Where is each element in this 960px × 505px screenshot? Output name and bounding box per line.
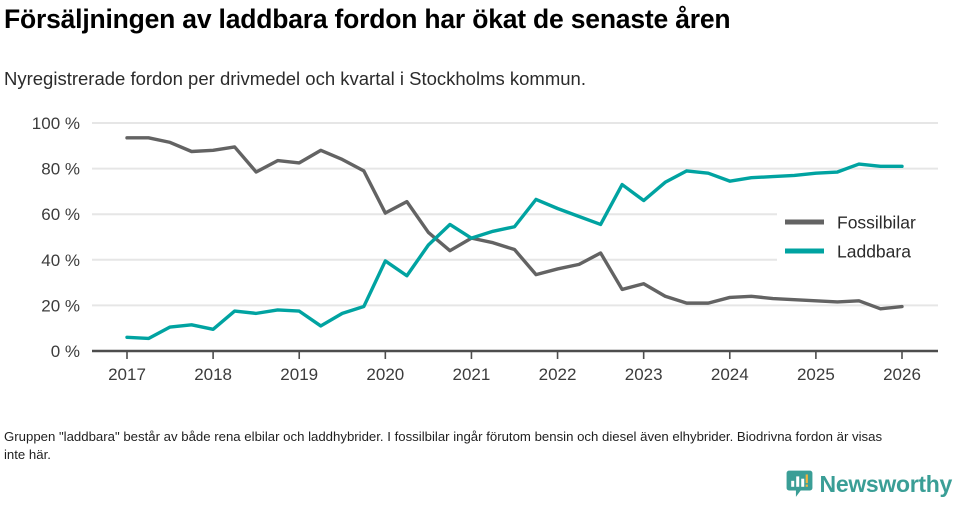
- chart-plot-area: 0 %20 %40 %60 %80 %100 % 201720182019202…: [0, 110, 960, 395]
- x-tick-label: 2020: [366, 365, 404, 384]
- x-tick-label: 2021: [453, 365, 491, 384]
- chart-x-axis-labels: 2017201820192020202120222023202420252026: [108, 365, 921, 384]
- y-tick-label: 20 %: [41, 296, 80, 315]
- chart-page: Försäljningen av laddbara fordon har öka…: [0, 0, 960, 505]
- x-tick-label: 2018: [194, 365, 232, 384]
- chart-footnote: Gruppen "laddbara" består av både rena e…: [4, 428, 904, 464]
- y-tick-label: 80 %: [41, 160, 80, 179]
- legend-label-fossilbilar: Fossilbilar: [837, 213, 916, 233]
- x-tick-label: 2023: [625, 365, 663, 384]
- x-tick-label: 2017: [108, 365, 146, 384]
- newsworthy-bar-chart-bubble-icon: [786, 470, 813, 498]
- chart-subtitle: Nyregistrerade fordon per drivmedel och …: [4, 68, 586, 90]
- chart-legend: FossilbilarLaddbara: [777, 204, 960, 272]
- y-tick-label: 0 %: [51, 342, 80, 361]
- x-tick-label: 2022: [539, 365, 577, 384]
- y-tick-label: 60 %: [41, 205, 80, 224]
- legend-label-laddbara: Laddbara: [837, 242, 911, 262]
- y-tick-label: 100 %: [32, 114, 80, 133]
- x-tick-label: 2019: [280, 365, 318, 384]
- y-tick-label: 40 %: [41, 251, 80, 270]
- newsworthy-logo-text: Newsworthy: [820, 473, 952, 496]
- page-title: Försäljningen av laddbara fordon har öka…: [4, 4, 730, 35]
- x-tick-label: 2025: [797, 365, 835, 384]
- newsworthy-logo: Newsworthy: [786, 470, 952, 498]
- x-tick-label: 2024: [711, 365, 749, 384]
- x-tick-label: 2026: [883, 365, 921, 384]
- line-chart: 0 %20 %40 %60 %80 %100 % 201720182019202…: [0, 110, 960, 395]
- chart-y-axis-labels: 0 %20 %40 %60 %80 %100 %: [32, 114, 80, 361]
